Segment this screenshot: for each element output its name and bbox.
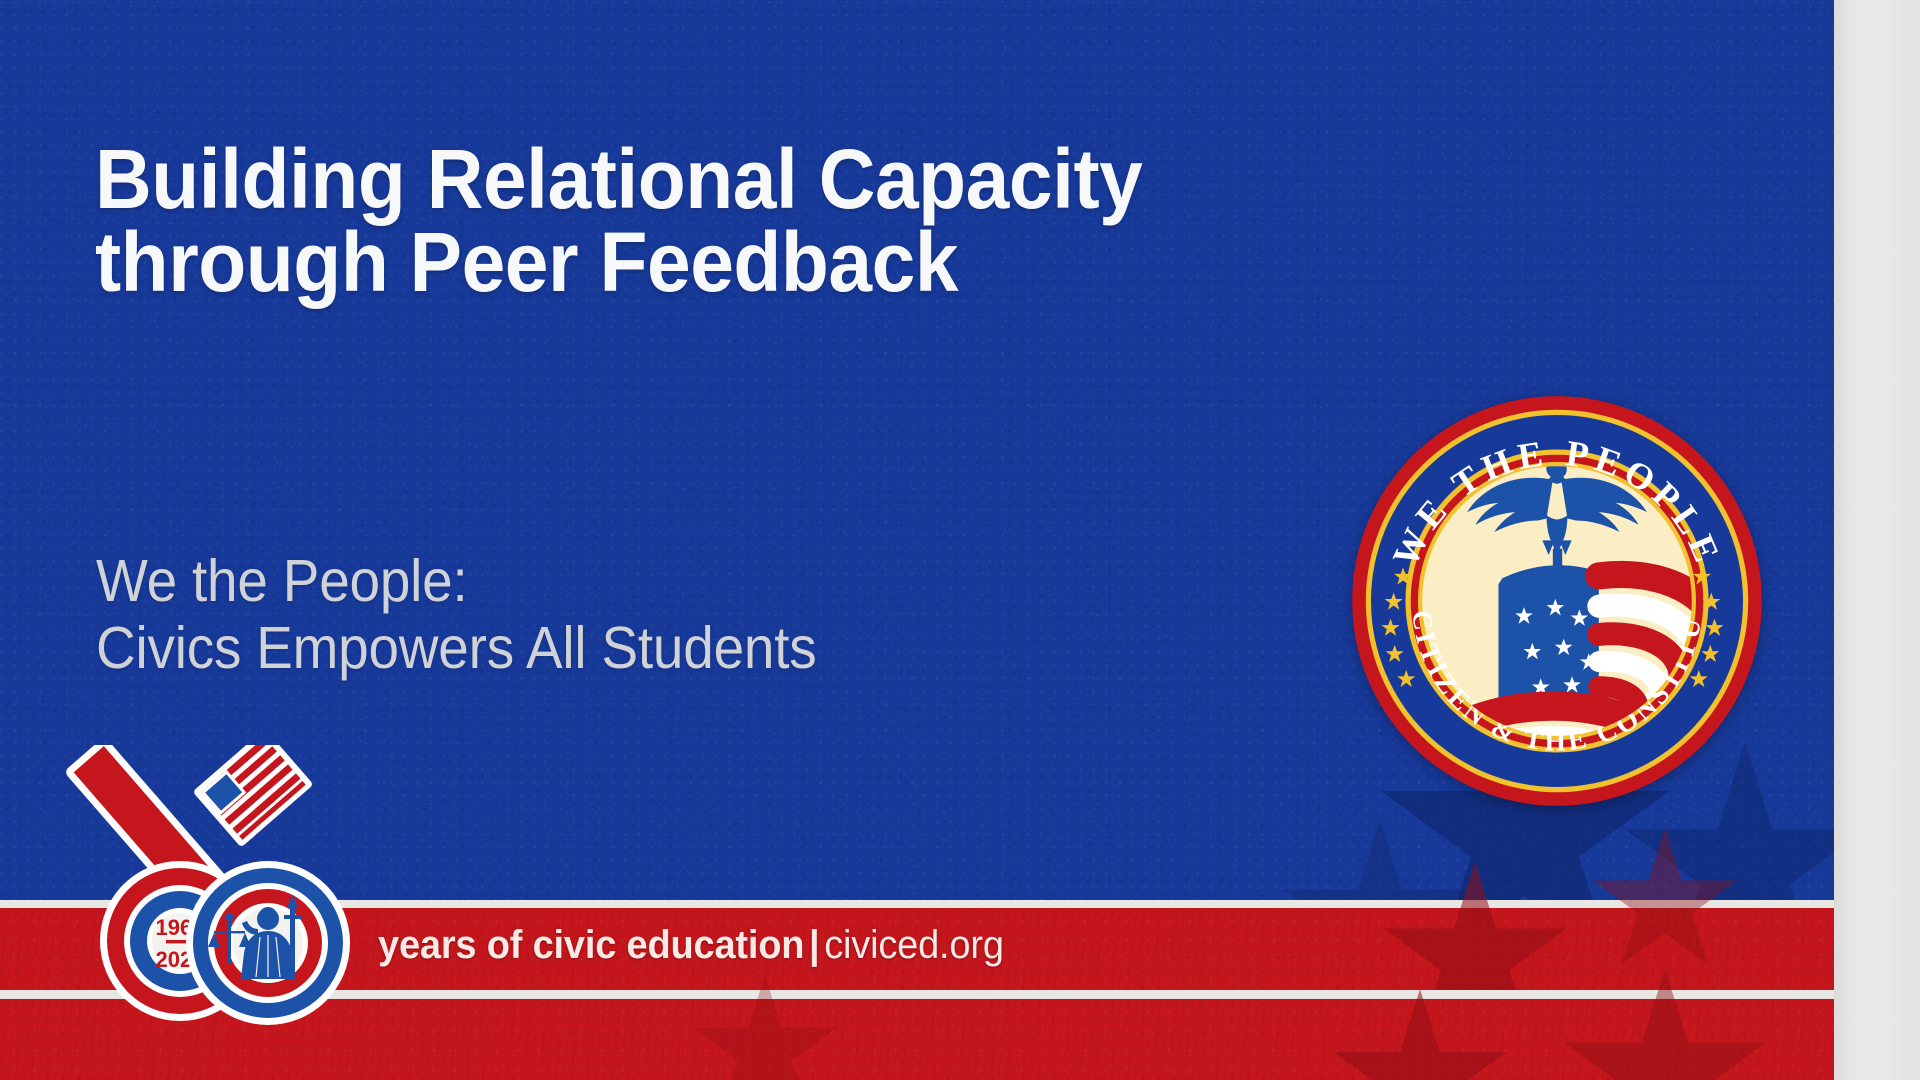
- slide-canvas: Building Relational Capacity through Pee…: [0, 0, 1834, 1080]
- banner-tagline-bold: years of civic education: [378, 923, 804, 967]
- banner-url: civiced.org: [824, 923, 1004, 967]
- slide-subtitle: We the People: Civics Empowers All Stude…: [96, 548, 1212, 681]
- we-the-people-seal-logo: WE THE PEOPLE THE CITIZEN & THE CONSTITU…: [1348, 392, 1766, 810]
- title-line-2: through Peer Feedback: [95, 221, 1273, 304]
- slide-title: Building Relational Capacity through Pee…: [95, 138, 1273, 304]
- banner-tagline: years of civic education|civiced.org: [378, 925, 1004, 965]
- subtitle-line-1: We the People:: [96, 548, 1212, 615]
- title-line-1: Building Relational Capacity: [95, 138, 1273, 221]
- banner-star-icon: [1330, 989, 1510, 1080]
- anniversary-60-logo: 1965 2025: [62, 745, 362, 1045]
- paper-edge-strip: [1834, 0, 1920, 1080]
- banner-separator: |: [804, 923, 824, 967]
- subtitle-line-2: Civics Empowers All Students: [96, 615, 1212, 682]
